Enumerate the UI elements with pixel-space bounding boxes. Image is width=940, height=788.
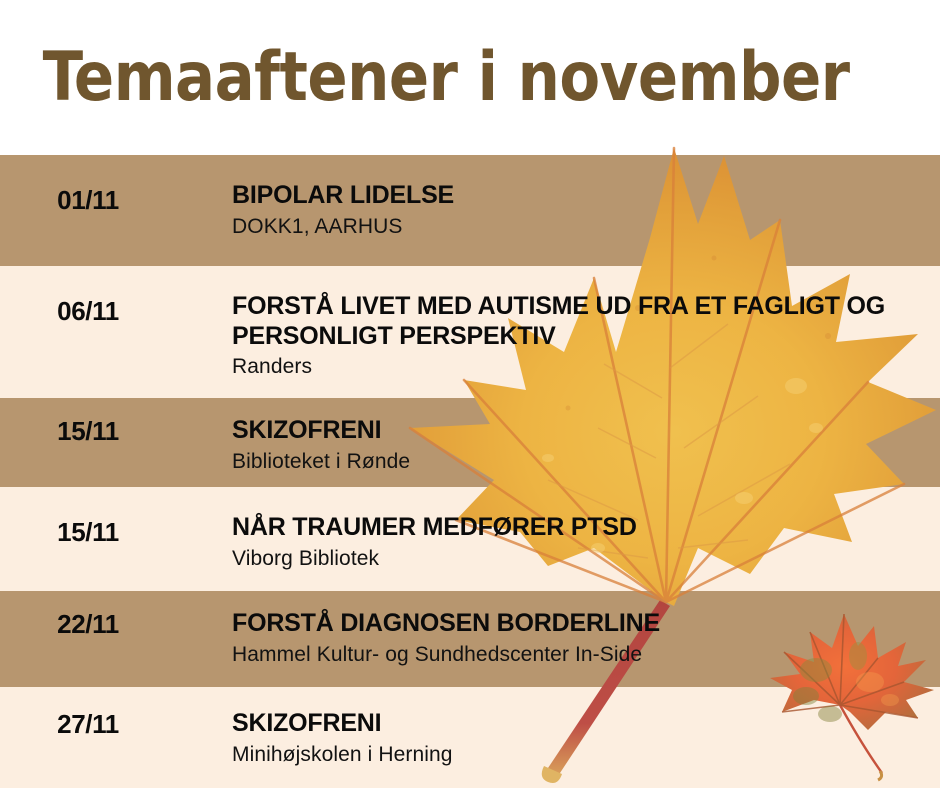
event-date: 01/11	[0, 155, 168, 216]
event-title: BIPOLAR LIDELSE	[232, 181, 940, 211]
list-item[interactable]: 15/11 SKIZOFRENI Biblioteket i Rønde	[0, 398, 940, 487]
event-location: DOKK1, AARHUS	[232, 214, 940, 240]
event-location: Hammel Kultur- og Sundhedscenter In-Side	[232, 642, 940, 668]
event-date: 15/11	[0, 487, 168, 548]
list-item[interactable]: 15/11 NÅR TRAUMER MEDFØRER PTSD Viborg B…	[0, 487, 940, 591]
event-date: 06/11	[0, 266, 168, 327]
event-list: 01/11 BIPOLAR LIDELSE DOKK1, AARHUS 06/1…	[0, 155, 940, 788]
event-poster: Temaaftener i november 01/11 BIPOLAR LID…	[0, 0, 940, 788]
event-info: FORSTÅ LIVET MED AUTISME UD FRA ET FAGLI…	[168, 266, 940, 380]
event-location: Randers	[232, 354, 940, 380]
list-item[interactable]: 22/11 FORSTÅ DIAGNOSEN BORDERLINE Hammel…	[0, 591, 940, 687]
list-item[interactable]: 06/11 FORSTÅ LIVET MED AUTISME UD FRA ET…	[0, 266, 940, 398]
event-info: FORSTÅ DIAGNOSEN BORDERLINE Hammel Kultu…	[168, 591, 940, 668]
event-date: 27/11	[0, 687, 168, 740]
event-info: SKIZOFRENI Biblioteket i Rønde	[168, 398, 940, 475]
event-info: SKIZOFRENI Minihøjskolen i Herning	[168, 687, 940, 768]
event-info: NÅR TRAUMER MEDFØRER PTSD Viborg Bibliot…	[168, 487, 940, 572]
event-location: Minihøjskolen i Herning	[232, 742, 940, 768]
event-title: SKIZOFRENI	[232, 416, 940, 446]
poster-header: Temaaftener i november	[0, 0, 940, 155]
event-date: 22/11	[0, 591, 168, 640]
event-location: Biblioteket i Rønde	[232, 449, 940, 475]
event-title: NÅR TRAUMER MEDFØRER PTSD	[232, 513, 940, 543]
event-title: FORSTÅ LIVET MED AUTISME UD FRA ET FAGLI…	[232, 292, 940, 351]
event-date: 15/11	[0, 398, 168, 447]
event-location: Viborg Bibliotek	[232, 546, 940, 572]
page-title: Temaaftener i november	[0, 44, 850, 112]
event-info: BIPOLAR LIDELSE DOKK1, AARHUS	[168, 155, 940, 240]
list-item[interactable]: 27/11 SKIZOFRENI Minihøjskolen i Herning	[0, 687, 940, 788]
event-title: FORSTÅ DIAGNOSEN BORDERLINE	[232, 609, 940, 639]
list-item[interactable]: 01/11 BIPOLAR LIDELSE DOKK1, AARHUS	[0, 155, 940, 266]
event-title: SKIZOFRENI	[232, 709, 940, 739]
